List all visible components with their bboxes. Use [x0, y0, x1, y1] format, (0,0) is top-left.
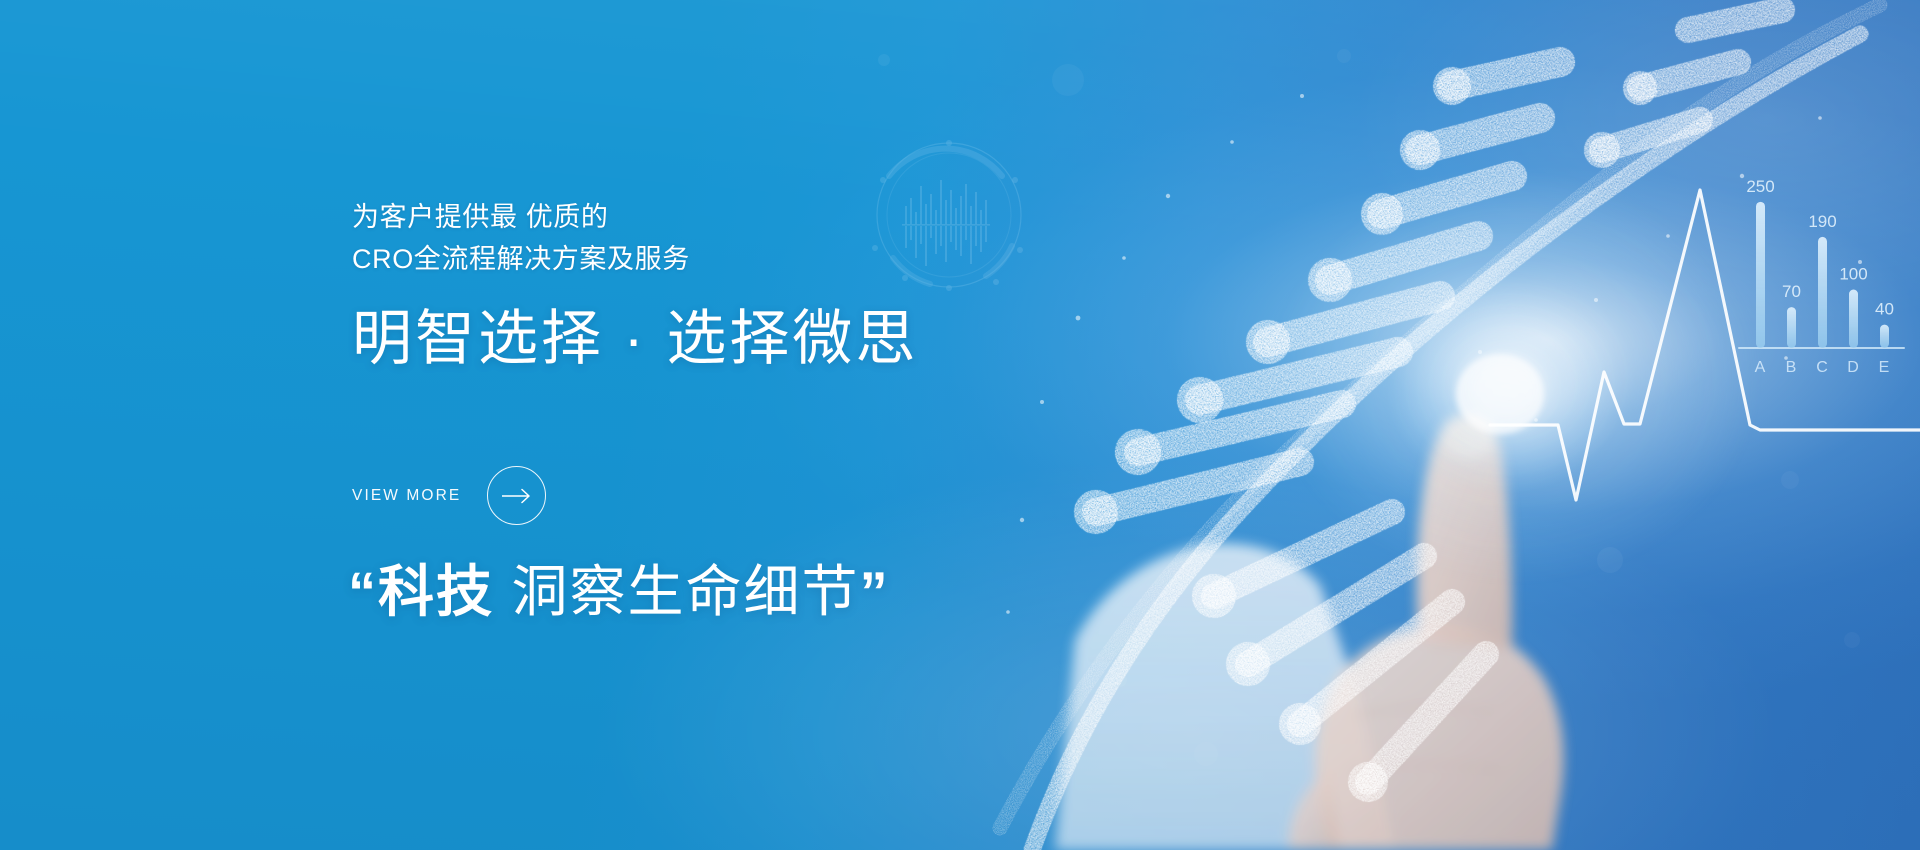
- chart-bar: [1849, 290, 1858, 348]
- bar-chart: 250A70B190C100D40E: [1739, 177, 1904, 376]
- chart-value-label: 250: [1746, 177, 1774, 196]
- quote-open-mark: “: [348, 560, 378, 623]
- chart-category-label: E: [1879, 359, 1891, 376]
- hero-headline: 明智选择 · 选择微思: [352, 304, 1112, 374]
- background-base-gradient: [0, 0, 1920, 850]
- chart-category-label: C: [1816, 359, 1829, 376]
- chart-value-label: 190: [1808, 212, 1836, 231]
- chart-value-label: 40: [1875, 300, 1894, 319]
- dna-helix-icon: [1000, 5, 1880, 850]
- chart-category-label: D: [1847, 359, 1860, 376]
- background-haze: [0, 0, 1920, 850]
- core-glow: [1265, 168, 1765, 588]
- view-more-label: VIEW MORE: [352, 487, 461, 505]
- arrow-right-icon: [502, 488, 532, 504]
- ecg-heartbeat-line-icon: [1490, 190, 1920, 500]
- chart-bar: [1880, 325, 1889, 348]
- hero-artwork: 250A70B190C100D40E: [0, 0, 1920, 850]
- chart-value-label: 70: [1782, 282, 1801, 301]
- chart-bar: [1756, 202, 1765, 348]
- chart-bar: [1787, 307, 1796, 348]
- view-more-circle[interactable]: [487, 466, 546, 525]
- background-core-glow: [0, 0, 1920, 850]
- background-vertical-shade: [0, 0, 1920, 850]
- bokeh-particles: [878, 49, 1860, 766]
- hero-copy: 为客户提供最 优质的 CRO全流程解决方案及服务 明智选择 · 选择微思: [352, 196, 1112, 374]
- chart-category-label: A: [1755, 359, 1767, 376]
- chart-value-label: 100: [1839, 265, 1867, 284]
- hero-subtitle-line-2: CRO全流程解决方案及服务: [352, 238, 1112, 280]
- chart-bar: [1818, 237, 1827, 348]
- quote-strong-text: 科技: [378, 560, 494, 623]
- view-more-button[interactable]: VIEW MORE: [352, 466, 546, 525]
- hero-banner: 250A70B190C100D40E 为客户提供最 优质的 CRO全流程解决方案…: [0, 0, 1920, 850]
- hero-subtitle-line-1: 为客户提供最 优质的: [352, 196, 1112, 238]
- quote-light-text: 洞察生命细节: [494, 560, 860, 623]
- pointing-hand-icon: [1055, 414, 1564, 850]
- quote-close-mark: ”: [860, 560, 890, 623]
- hero-quote: “科技 洞察生命细节”: [348, 556, 890, 628]
- chart-category-label: B: [1786, 359, 1798, 376]
